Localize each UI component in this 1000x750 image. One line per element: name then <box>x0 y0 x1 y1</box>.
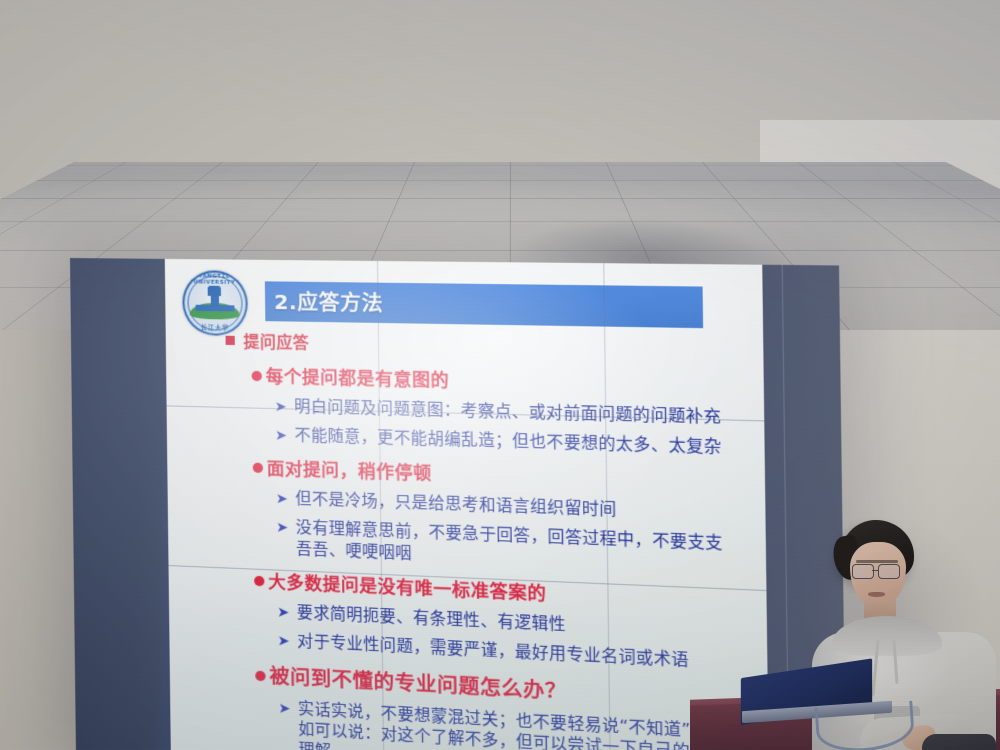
bullet-text: 大多数提问是没有唯一标准答案的 <box>268 572 546 605</box>
arrow-bullet-icon: ➤ <box>275 399 288 416</box>
arrow-bullet-icon: ➤ <box>275 428 288 445</box>
round-bullet-icon <box>252 463 262 474</box>
eyebrows <box>856 560 898 563</box>
slide-title: 2.应答方法 <box>274 286 383 317</box>
bullet-text: 要求简明扼要、有条理性、有逻辑性 <box>297 603 566 634</box>
square-bullet-icon <box>225 336 234 345</box>
bullet-text: 但不是冷场，只是给思考和语言组织留时间 <box>295 490 616 520</box>
round-bullet-icon <box>254 576 264 587</box>
round-bullet-icon <box>255 671 265 682</box>
lecture-room-photo: YANGTZE UNIVERSITY 长江大学 2.应答方法 提问应答 <box>0 0 1000 750</box>
logo-text-top: YANGTZE UNIVERSITY <box>182 273 247 286</box>
mouth <box>868 592 885 597</box>
bullet-text: 面对提问，稍作停顿 <box>267 459 432 485</box>
bullet-level2: 每个提问都是有意图的 <box>251 362 764 399</box>
arrow-bullet-icon: ➤ <box>277 604 290 621</box>
round-bullet-icon <box>251 371 261 381</box>
university-logo-icon: YANGTZE UNIVERSITY 长江大学 <box>182 270 248 336</box>
slide-body: 提问应答 每个提问都是有意图的 ➤明白问题及问题意图：考察点、或对前面问题的问题… <box>166 327 769 750</box>
arrow-bullet-icon: ➤ <box>277 633 290 650</box>
slide-title-banner: 2.应答方法 <box>264 281 703 328</box>
presentation-slide: YANGTZE UNIVERSITY 长江大学 2.应答方法 提问应答 <box>165 259 769 750</box>
bullet-level1: 提问应答 <box>225 330 763 363</box>
bullet-text: 被问到不懂的专业问题怎么办？ <box>269 664 567 704</box>
bullet-text: 每个提问都是有意图的 <box>266 367 450 392</box>
bullet-level3: ➤没有理解意思前，不要急于回答，回答过程中，不要支支 吾吾、哽哽咽咽 <box>276 517 747 577</box>
projection-screen: YANGTZE UNIVERSITY 长江大学 2.应答方法 提问应答 <box>70 258 846 750</box>
bullet-level3: ➤不能随意，更不能胡编乱造；但也不要想的太多、太复杂 <box>275 425 746 459</box>
bullet-text: 明白问题及问题意图：考察点、或对前面问题的问题补充 <box>294 397 721 426</box>
bullet-text: 提问应答 <box>244 333 310 353</box>
bullet-level3: ➤明白问题及问题意图：考察点、或对前面问题的问题补充 <box>275 396 746 429</box>
eyeglasses-icon <box>852 564 902 577</box>
dark-bag <box>922 734 996 750</box>
arrow-bullet-icon: ➤ <box>276 520 289 537</box>
bullet-text: 不能随意，更不能胡编乱造；但也不要想的太多、太复杂 <box>295 426 722 457</box>
arrow-bullet-icon: ➤ <box>278 701 291 718</box>
arrow-bullet-icon: ➤ <box>276 491 289 508</box>
